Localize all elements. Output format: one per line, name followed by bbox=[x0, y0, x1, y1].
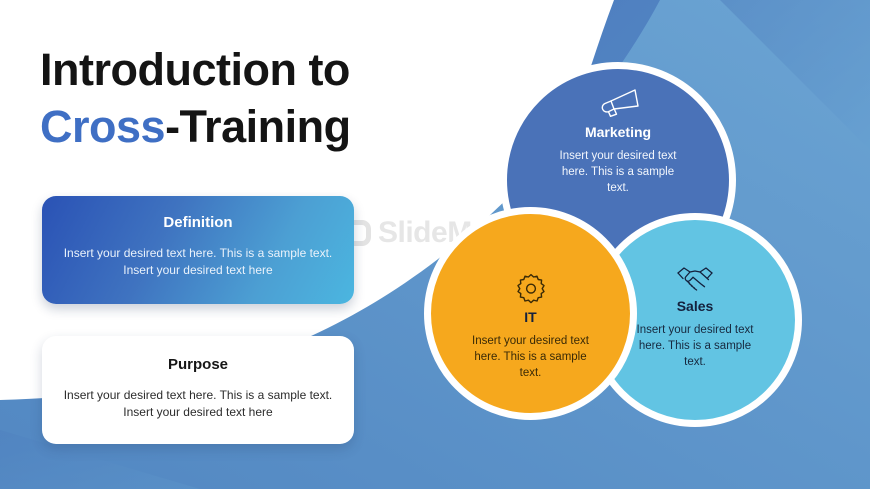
card-purpose[interactable]: Purpose Insert your desired text here. T… bbox=[42, 336, 354, 444]
megaphone-icon bbox=[597, 87, 639, 119]
title-line-2: Cross-Training bbox=[40, 99, 351, 156]
card-definition[interactable]: Definition Insert your desired text here… bbox=[42, 196, 354, 304]
page-title: Introduction to Cross-Training bbox=[40, 42, 351, 155]
title-line-2-rest: -Training bbox=[165, 101, 351, 152]
gear-icon bbox=[515, 272, 547, 304]
card-purpose-body: Insert your desired text here. This is a… bbox=[42, 387, 354, 421]
venn-circle-sales-title: Sales bbox=[677, 299, 714, 313]
venn-circle-it-title: IT bbox=[524, 310, 536, 324]
handshake-icon bbox=[675, 265, 715, 293]
venn-circle-marketing-content: Marketing Insert your desired text here.… bbox=[507, 87, 729, 196]
card-purpose-title: Purpose bbox=[42, 357, 354, 372]
title-line-1: Introduction to bbox=[40, 42, 351, 99]
title-accent-word: Cross bbox=[40, 101, 165, 152]
venn-circle-marketing-title: Marketing bbox=[585, 125, 651, 139]
venn-circle-it-body: Insert your desired text here. This is a… bbox=[466, 333, 596, 381]
venn-circle-it[interactable]: IT Insert your desired text here. This i… bbox=[424, 207, 637, 420]
card-definition-title: Definition bbox=[42, 215, 354, 230]
slide-canvas: SlideModel .com Introduction to Cross-Tr… bbox=[0, 0, 870, 489]
venn-circle-sales-body: Insert your desired text here. This is a… bbox=[630, 322, 760, 370]
venn-circle-it-content: IT Insert your desired text here. This i… bbox=[431, 272, 630, 381]
card-definition-body: Insert your desired text here. This is a… bbox=[42, 245, 354, 279]
venn-circle-marketing-body: Insert your desired text here. This is a… bbox=[553, 148, 683, 196]
